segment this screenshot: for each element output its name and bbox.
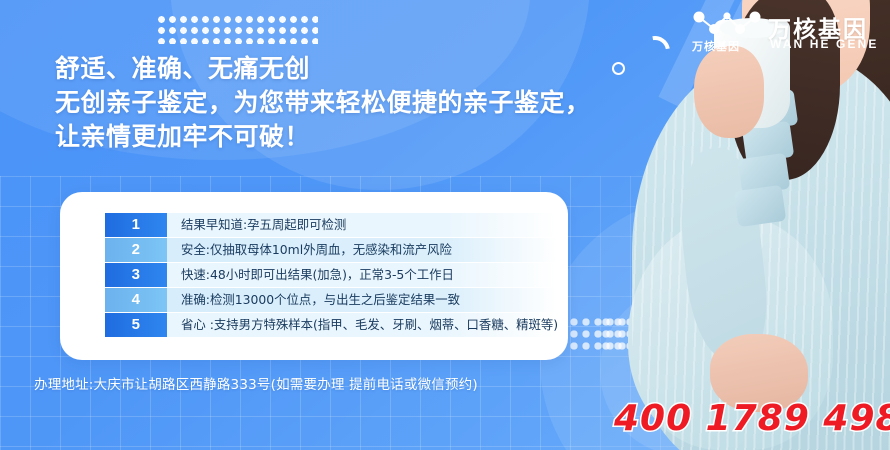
office-address: 办理地址:大庆市让胡路区西静路333号(如需要办理 提前电话或微信预约) — [34, 373, 478, 393]
photo-hand-upper — [694, 46, 764, 138]
feature-list: 1 结果早知道:孕五周起即可检测 2 安全:仅抽取母体10ml外周血，无感染和流… — [105, 213, 557, 338]
feature-row-1: 1 结果早知道:孕五周起即可检测 — [105, 213, 557, 237]
banner-root: 万核基因 万核基因 WAN HE GENE 舒适、准确、无痛无创 无创亲子鉴定，… — [0, 0, 890, 450]
brand-name-en: WAN HE GENE — [770, 37, 878, 51]
feature-text-2: 安全:仅抽取母体10ml外周血，无感染和流产风险 — [167, 238, 557, 262]
hotline-number[interactable]: 400 1789 498 — [614, 398, 890, 439]
feature-number-3: 3 — [105, 263, 167, 287]
feature-number-2: 2 — [105, 238, 167, 262]
feature-number-4: 4 — [105, 288, 167, 312]
feature-card: 1 结果早知道:孕五周起即可检测 2 安全:仅抽取母体10ml外周血，无感染和流… — [60, 192, 568, 360]
headline-line-2: 无创亲子鉴定，为您带来轻松便捷的亲子鉴定， — [55, 86, 645, 120]
feature-number-5: 5 — [105, 313, 167, 337]
feature-text-1: 结果早知道:孕五周起即可检测 — [167, 213, 557, 237]
feature-text-5: 省心 :支持男方特殊样本(指甲、毛发、牙刷、烟蒂、口香糖、精斑等) — [167, 313, 557, 337]
headline-line-1: 舒适、准确、无痛无创 — [55, 52, 645, 86]
feature-row-4: 4 准确:检测13000个位点，与出生之后鉴定结果一致 — [105, 288, 557, 312]
headline-block: 舒适、准确、无痛无创 无创亲子鉴定，为您带来轻松便捷的亲子鉴定， 让亲情更加牢不… — [55, 52, 645, 154]
molecule-icon — [690, 8, 764, 38]
dot-grid-top — [156, 14, 318, 44]
brand-logo[interactable]: 万核基因 万核基因 WAN HE GENE — [690, 8, 885, 54]
feature-text-4: 准确:检测13000个位点，与出生之后鉴定结果一致 — [167, 288, 557, 312]
headline-line-3: 让亲情更加牢不可破！ — [55, 120, 645, 154]
feature-number-1: 1 — [105, 213, 167, 237]
feature-row-2: 2 安全:仅抽取母体10ml外周血，无感染和流产风险 — [105, 238, 557, 262]
feature-row-3: 3 快速:48小时即可出结果(加急)，正常3-5个工作日 — [105, 263, 557, 287]
feature-row-5: 5 省心 :支持男方特殊样本(指甲、毛发、牙刷、烟蒂、口香糖、精斑等) — [105, 313, 557, 337]
feature-text-3: 快速:48小时即可出结果(加急)，正常3-5个工作日 — [167, 263, 557, 287]
logo-small-label: 万核基因 — [692, 38, 740, 54]
